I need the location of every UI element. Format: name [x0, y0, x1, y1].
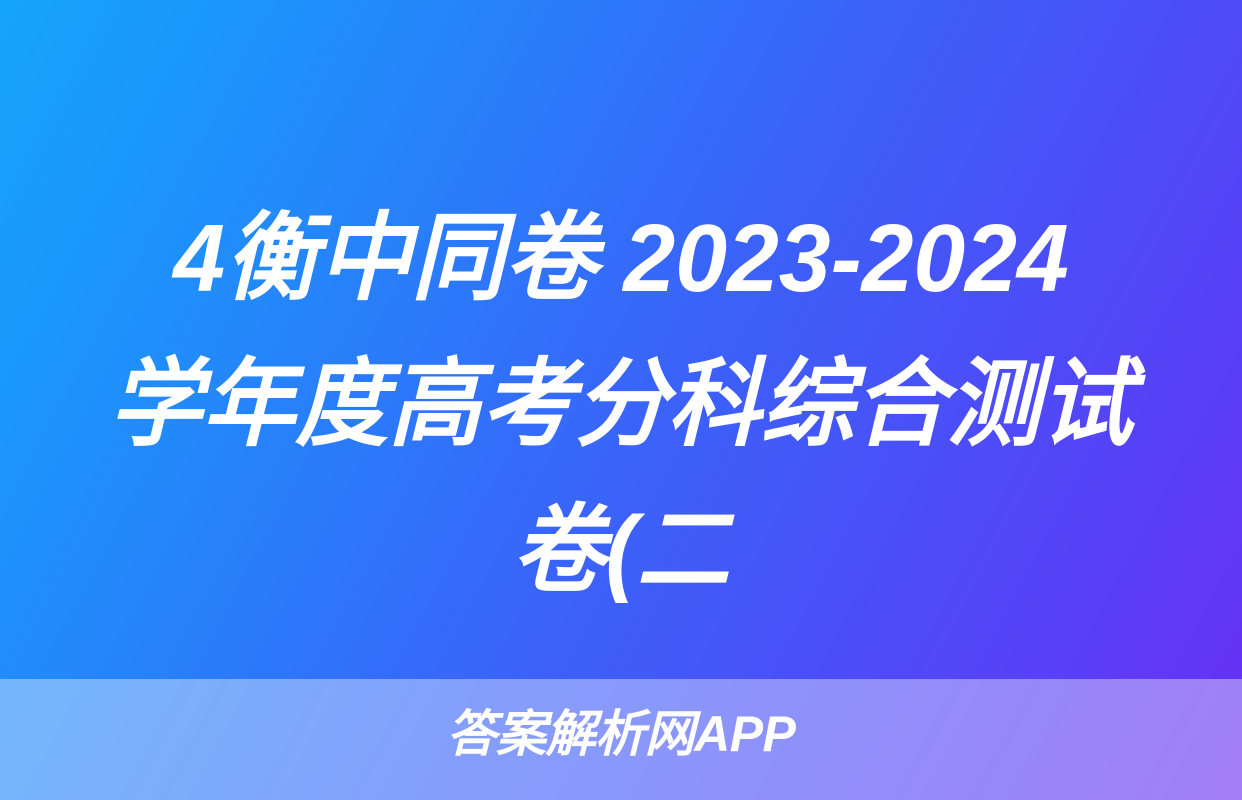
title-line-1: 4衡中同卷 2023-2024 [19, 186, 1224, 332]
title-line-3: 卷(二 [19, 478, 1224, 624]
brand-watermark: 答案解析网APP [0, 703, 1242, 765]
page-title: 4衡中同卷 2023-2024 学年度高考分科综合测试 卷(二 [0, 186, 1242, 624]
title-line-2: 学年度高考分科综合测试 [19, 332, 1224, 478]
exam-cover-card: 4衡中同卷 2023-2024 学年度高考分科综合测试 卷(二 答案解析网APP [0, 0, 1242, 800]
